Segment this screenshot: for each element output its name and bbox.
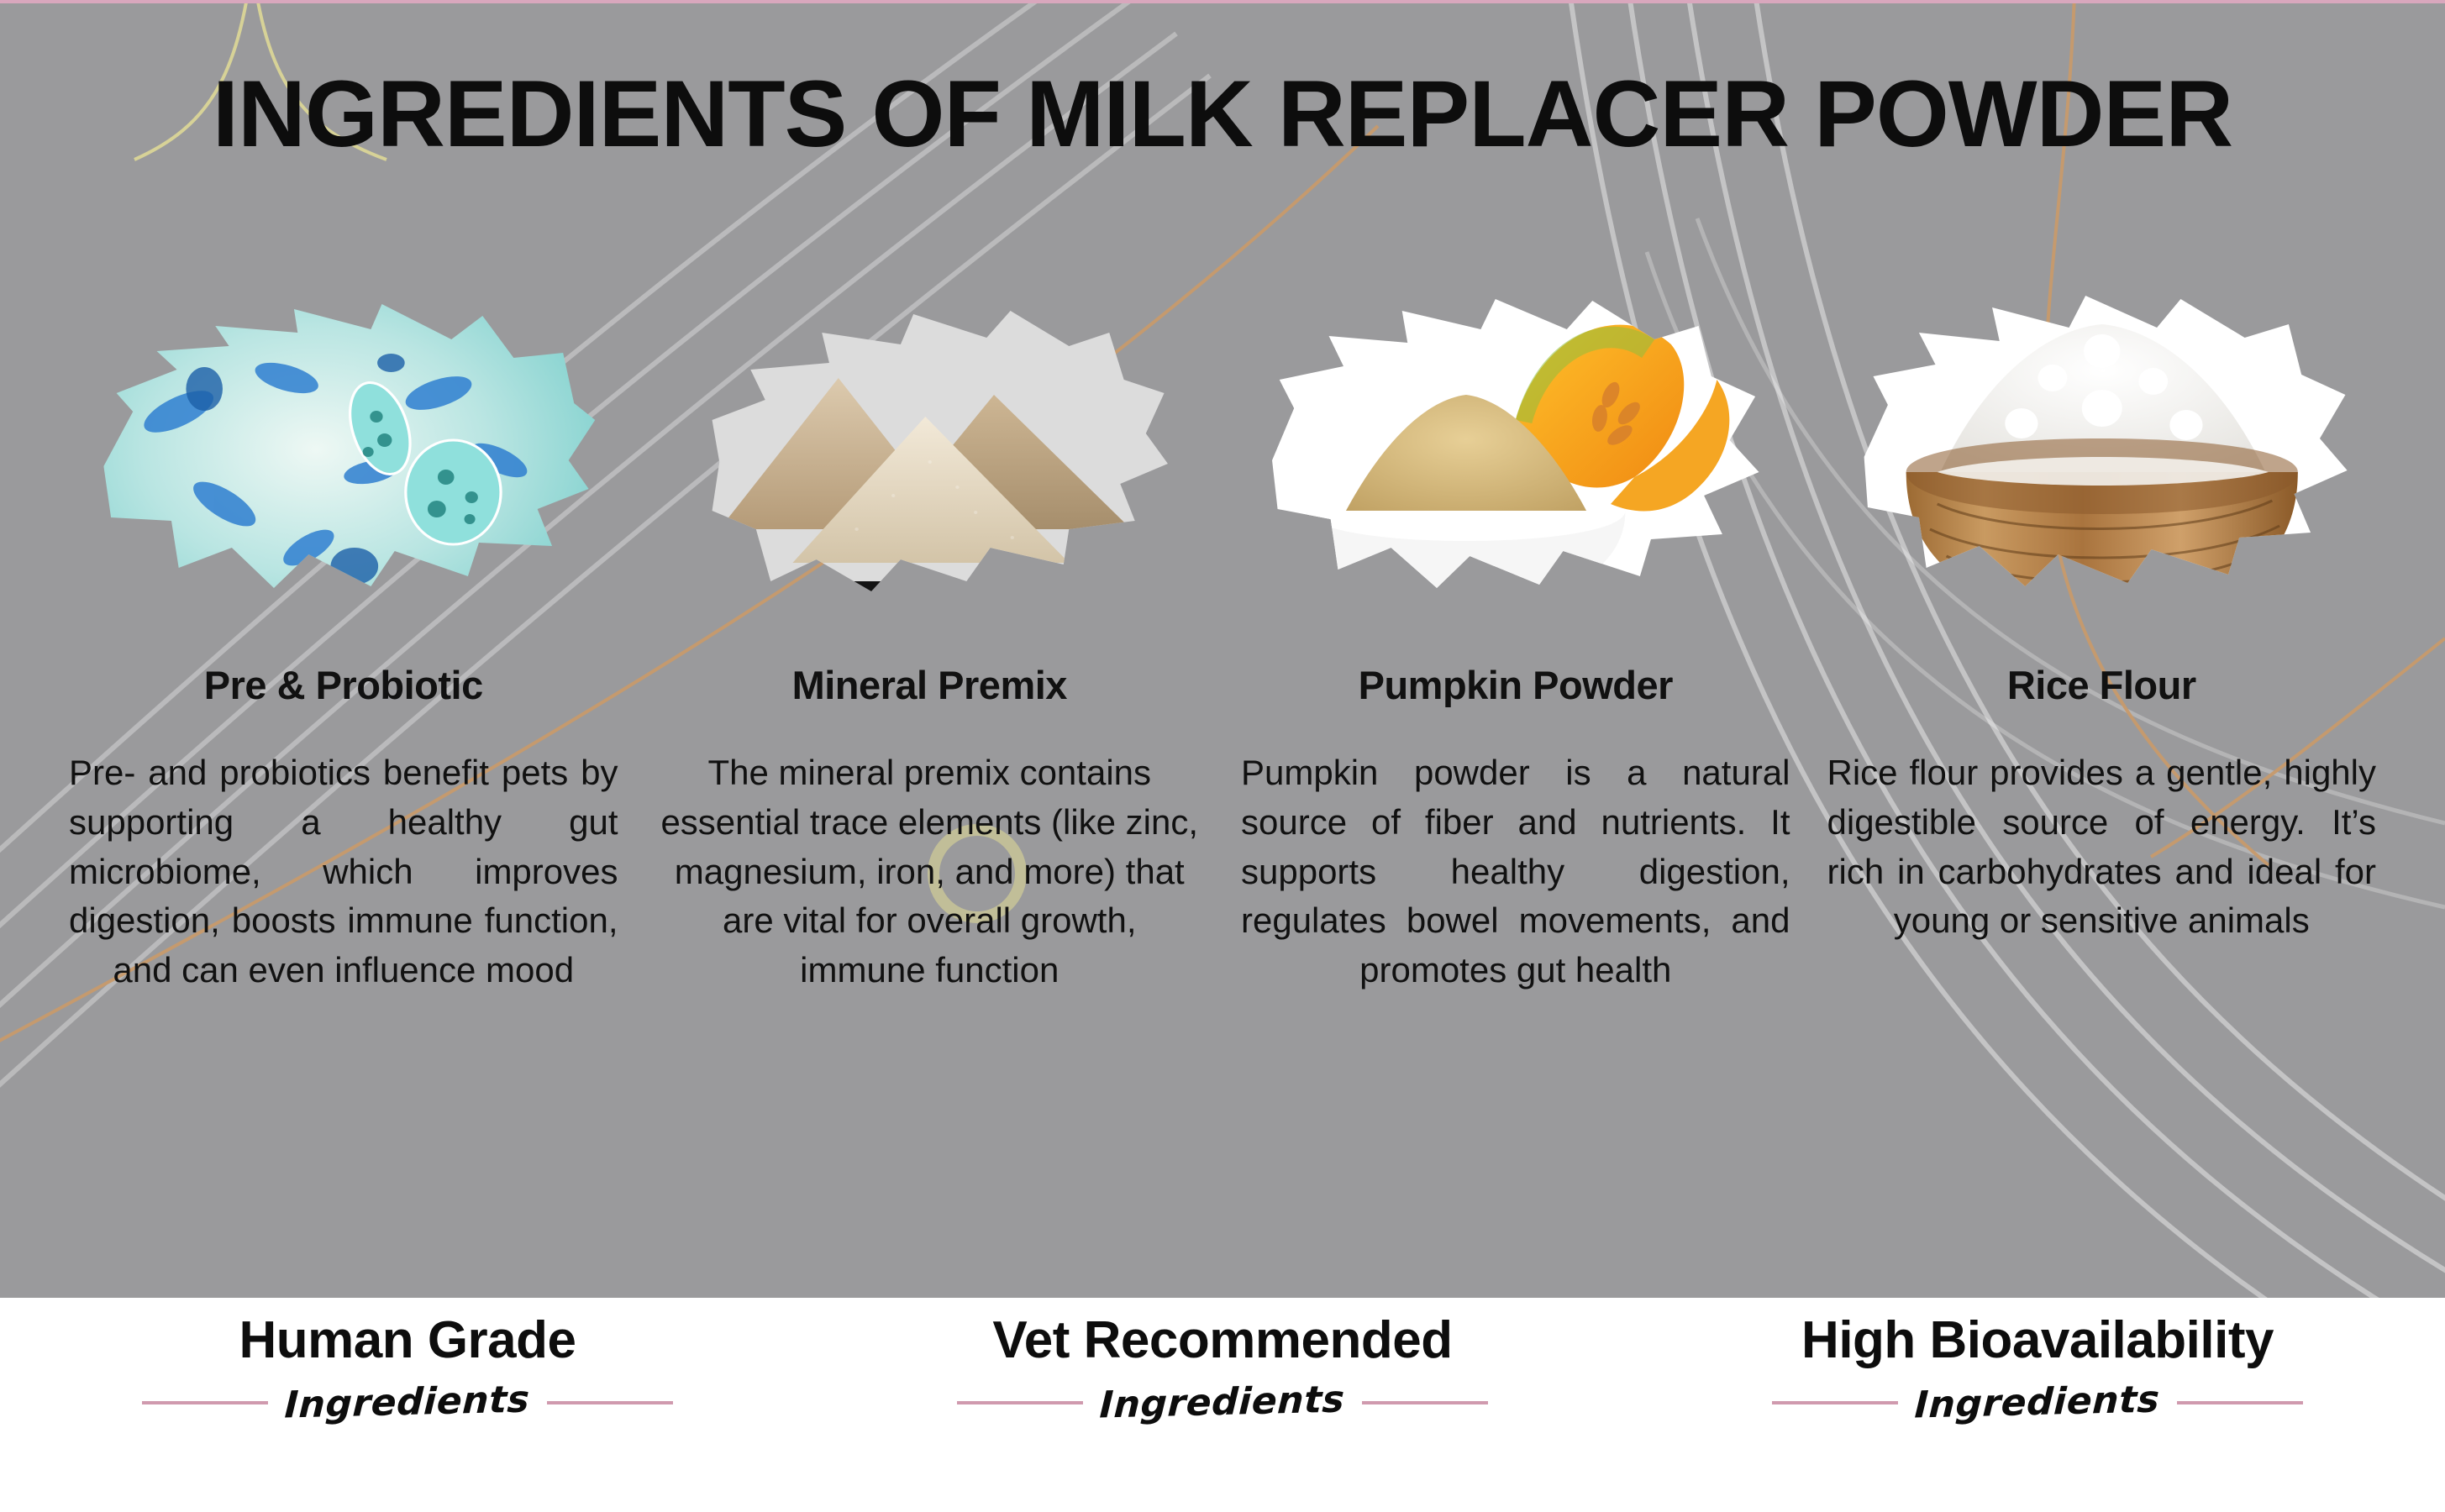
ingredient-heading: Pre & Probiotic <box>204 662 483 708</box>
page-title: INGREDIENTS OF MILK REPLACER POWDER <box>0 67 2445 161</box>
badge-subtitle: Ingredients <box>284 1378 531 1427</box>
badge-subtitle-row: Ingredients <box>142 1381 672 1424</box>
probiotic-bacteria-photo <box>69 252 618 647</box>
footer-badge-bar: Human Grade Ingredients Vet Recommended … <box>0 1298 2445 1512</box>
probiotic-image-plate <box>69 252 618 647</box>
mineral-premix-image-plate <box>655 252 1205 647</box>
top-accent-rule <box>0 0 2445 3</box>
ingredient-heading: Pumpkin Powder <box>1359 662 1673 708</box>
badge-rule-left <box>957 1401 1083 1404</box>
badge-rule-left <box>1772 1401 1898 1404</box>
badge-human-grade: Human Grade Ingredients <box>0 1298 815 1512</box>
badge-subtitle-row: Ingredients <box>957 1381 1487 1424</box>
ingredient-description: Pre- and probiotics benefit pets by supp… <box>69 748 618 995</box>
ingredient-card-rice-flour: Rice Flour Rice flour provides a gentle,… <box>1809 252 2395 1260</box>
ingredient-columns: Pre & Probiotic Pre- and probiotics bene… <box>50 252 2395 1260</box>
badge-title: High Bioavailability <box>1801 1313 2274 1368</box>
ingredient-card-mineral-premix: Mineral Premix The mineral premix contai… <box>637 252 1223 1260</box>
poster-title-block: INGREDIENTS OF MILK REPLACER POWDER <box>0 67 2445 161</box>
brush-stroke-mask-icon <box>69 252 618 647</box>
brush-stroke-mask-icon <box>1827 252 2377 647</box>
ingredient-heading: Rice Flour <box>2007 662 2196 708</box>
badge-rule-right <box>547 1401 673 1404</box>
badge-high-bioavailability: High Bioavailability Ingredients <box>1630 1298 2445 1512</box>
ingredient-description: Pumpkin powder is a natural source of fi… <box>1241 748 1790 995</box>
badge-subtitle-row: Ingredients <box>1772 1381 2302 1424</box>
ingredient-description: Rice flour provides a gentle, highly dig… <box>1827 748 2377 946</box>
badge-rule-left <box>142 1401 268 1404</box>
badge-rule-right <box>2177 1401 2303 1404</box>
badge-rule-right <box>1362 1401 1488 1404</box>
rice-flour-image-plate <box>1827 252 2377 647</box>
badge-title: Human Grade <box>239 1313 576 1368</box>
ingredient-card-pumpkin-powder: Pumpkin Powder Pumpkin powder is a natur… <box>1222 252 1809 1260</box>
pumpkin-powder-bowl-photo <box>1241 252 1790 647</box>
ingredient-description: The mineral premix contains essential tr… <box>655 748 1205 995</box>
ingredient-card-pre-and-probiotic: Pre & Probiotic Pre- and probiotics bene… <box>50 252 637 1260</box>
badge-subtitle: Ingredients <box>1099 1378 1346 1427</box>
brush-stroke-mask-icon <box>1241 252 1790 647</box>
badge-title: Vet Recommended <box>992 1313 1452 1368</box>
infographic-poster: INGREDIENTS OF MILK REPLACER POWDER <box>0 0 2445 1512</box>
badge-subtitle: Ingredients <box>1914 1378 2161 1427</box>
badge-vet-recommended: Vet Recommended Ingredients <box>815 1298 1630 1512</box>
mineral-premix-powder-photo <box>655 252 1205 647</box>
rice-flour-wooden-bowl-photo <box>1827 252 2377 647</box>
ingredient-heading: Mineral Premix <box>792 662 1067 708</box>
pumpkin-powder-image-plate <box>1241 252 1790 647</box>
brush-stroke-mask-icon <box>655 252 1205 647</box>
